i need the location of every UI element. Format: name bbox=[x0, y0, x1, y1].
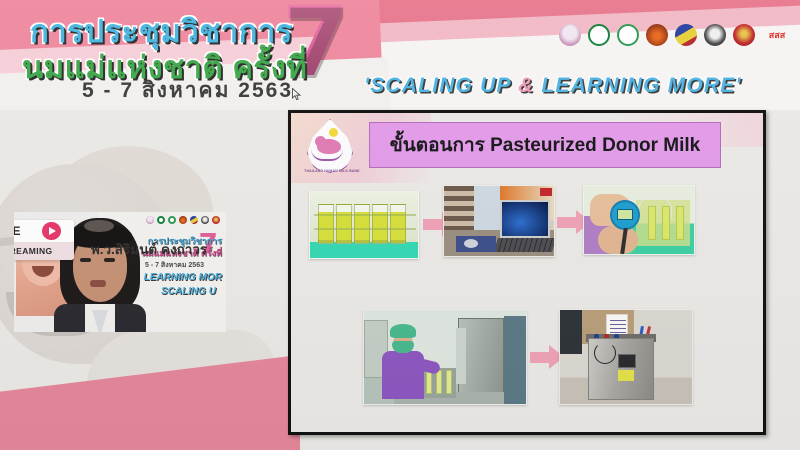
laptop-screen bbox=[502, 202, 548, 236]
royal-patronage-logo bbox=[559, 24, 581, 46]
inset-logo-7 bbox=[212, 216, 220, 224]
human-milk-bank-logo: THAILAND HUMAN MILK BANK bbox=[301, 117, 359, 179]
conference-header-banner: 7 การประชุมวิชาการ นมแม่แห่งชาติ ครั้งที… bbox=[0, 0, 800, 110]
inset-logo-4 bbox=[179, 216, 187, 224]
computer-mouse bbox=[464, 239, 478, 248]
milk-bottle-racks-photo bbox=[309, 191, 419, 259]
department-health-logo bbox=[617, 24, 639, 46]
slide-content-panel: THAILAND HUMAN MILK BANK ขั้นตอนการ Past… bbox=[288, 110, 766, 435]
live-label: VE bbox=[14, 224, 21, 238]
bottle-rack bbox=[372, 204, 388, 244]
tagline-suffix: LEARNING MORE' bbox=[534, 74, 741, 97]
inset-logo-2 bbox=[157, 216, 165, 224]
arrow-shaft bbox=[557, 217, 577, 228]
poster-red-mark bbox=[540, 188, 552, 196]
inset-logo-3 bbox=[168, 216, 176, 224]
surgical-cap bbox=[390, 324, 416, 338]
royal-college-logo bbox=[646, 24, 668, 46]
nurse-figure bbox=[382, 324, 424, 396]
hand-lower bbox=[598, 226, 638, 254]
rack-shelf-line bbox=[314, 228, 416, 230]
inset-tagline-1: LEARNING MOR bbox=[144, 272, 222, 283]
bottle-rack bbox=[318, 204, 334, 244]
inset-dates: 5 - 7 สิงหาคม 2563 bbox=[145, 260, 204, 271]
machine-dark-wall bbox=[560, 310, 582, 354]
basket-wire-handle bbox=[638, 196, 672, 218]
thermometer-data-logger-photo bbox=[583, 185, 695, 255]
laptop-workstation-photo bbox=[443, 185, 555, 257]
thermometer-display bbox=[617, 209, 633, 220]
tagline-ampersand: & bbox=[518, 74, 534, 97]
racks-green-floor bbox=[310, 242, 419, 258]
bottle-rack bbox=[390, 204, 406, 244]
thaihealth-logo: สสส bbox=[762, 24, 792, 46]
speaker-hair-highlight bbox=[84, 220, 114, 232]
ministry-health-logo bbox=[588, 24, 610, 46]
laptop-keyboard bbox=[494, 238, 555, 252]
live-video-inset[interactable]: 7 การประชุมวิชาการ นมแม่แห่งชาติ ครั้งที… bbox=[14, 212, 226, 332]
arrow-shaft bbox=[530, 352, 550, 363]
inset-logos-row bbox=[146, 216, 220, 224]
presentation-screen: 7 การประชุมวิชาการ นมแม่แห่งชาติ ครั้งที… bbox=[0, 0, 800, 450]
pasteurizer-frame bbox=[456, 328, 466, 384]
arrow-shaft bbox=[423, 219, 443, 230]
control-panel-display bbox=[618, 354, 636, 368]
sponsor-logos-row: สสส bbox=[559, 24, 792, 46]
pasteurizer-machine-photo bbox=[559, 309, 693, 405]
national-institute-logo bbox=[704, 24, 726, 46]
surgical-mask bbox=[392, 341, 414, 353]
basket-bottle bbox=[676, 206, 684, 240]
mouse-cursor bbox=[292, 88, 301, 101]
tray-bottle bbox=[436, 370, 442, 394]
bottle-rack bbox=[336, 204, 352, 244]
tray-bottle bbox=[446, 370, 452, 394]
milk-drop-highlight bbox=[329, 128, 338, 137]
tagline-prefix: 'SCALING UP bbox=[364, 74, 518, 97]
warning-label bbox=[618, 370, 634, 381]
inset-logo-6 bbox=[201, 216, 209, 224]
left-panel: 7 การประชุมวิชาการ นมแม่แห่งชาติ ครั้งที… bbox=[0, 100, 300, 450]
background-equipment bbox=[504, 316, 526, 404]
tray-bottle bbox=[426, 370, 432, 394]
logo-caption: THAILAND HUMAN MILK BANK bbox=[301, 169, 363, 173]
conference-tagline: 'SCALING UP & LEARNING MORE' bbox=[364, 74, 742, 98]
university-emblem-logo bbox=[675, 24, 697, 46]
bottle-rack bbox=[354, 204, 370, 244]
inset-logo-5 bbox=[190, 216, 198, 224]
inset-logo-1 bbox=[146, 216, 154, 224]
nurse-loading-pasteurizer-photo bbox=[363, 309, 527, 405]
inset-tagline-2: SCALING U bbox=[161, 286, 216, 297]
power-cord bbox=[594, 342, 616, 364]
speaker-name-caption: พ.ว.สิริมนต์ คงถาวร bbox=[34, 238, 264, 260]
slide-title-bar: ขั้นตอนการ Pasteurized Donor Milk bbox=[369, 122, 721, 168]
garuda-seal-logo bbox=[733, 24, 755, 46]
slide-title: ขั้นตอนการ Pasteurized Donor Milk bbox=[390, 130, 700, 160]
rack-shelf-line bbox=[314, 214, 416, 216]
speaker-mouth bbox=[90, 280, 106, 287]
